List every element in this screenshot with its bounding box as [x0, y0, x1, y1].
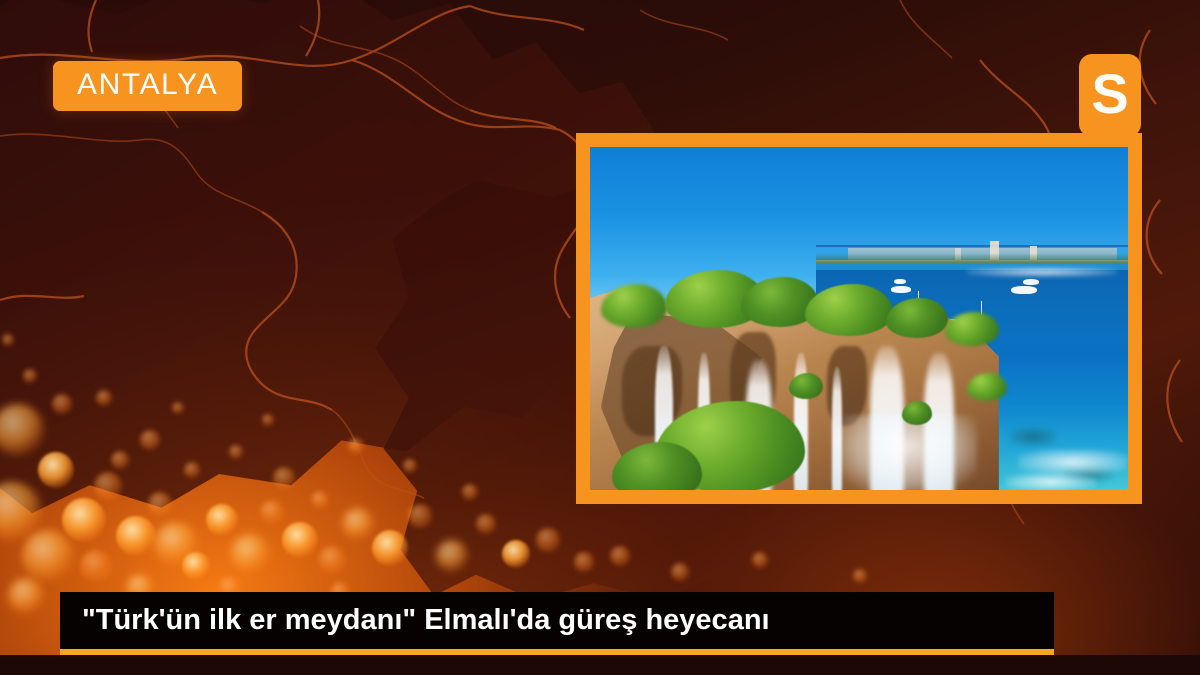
photo-boat [1011, 286, 1037, 294]
photo-boat [894, 279, 906, 284]
photo-reef [1010, 428, 1056, 446]
photo-tree [601, 284, 667, 328]
headline-bar: "Türk'ün ilk er meydanı" Elmalı'da güreş… [60, 592, 1054, 649]
photo-cliff-shrub [789, 373, 823, 399]
bottom-background-fill [0, 655, 1200, 675]
photo-frame [576, 133, 1142, 504]
news-thumbnail-card: ANTALYA S [0, 0, 1200, 675]
photo-cliff-shrub [902, 401, 932, 425]
brand-logo-glyph: S [1091, 66, 1128, 122]
photo-horizon-line [816, 245, 1128, 247]
photo-sea-foam [1018, 449, 1128, 475]
headline-title: "Türk'ün ilk er meydanı" Elmalı'da güreş… [60, 606, 770, 635]
headline-accent-underline [60, 649, 1054, 655]
photo-boat [1023, 279, 1039, 285]
photo-boat [891, 286, 911, 293]
city-name-badge: ANTALYA [53, 61, 242, 111]
photo-scene-duden-waterfalls [590, 147, 1128, 490]
photo-tree [886, 298, 948, 338]
photo-cliff-shrub [967, 373, 1007, 401]
photo-waterfall-spray [837, 415, 977, 490]
photo-sea-foam [1006, 473, 1096, 490]
photo-image [590, 147, 1128, 490]
brand-s-logo[interactable]: S [1079, 54, 1141, 137]
photo-tree [945, 312, 999, 346]
photo-sea-foam [967, 267, 1117, 277]
